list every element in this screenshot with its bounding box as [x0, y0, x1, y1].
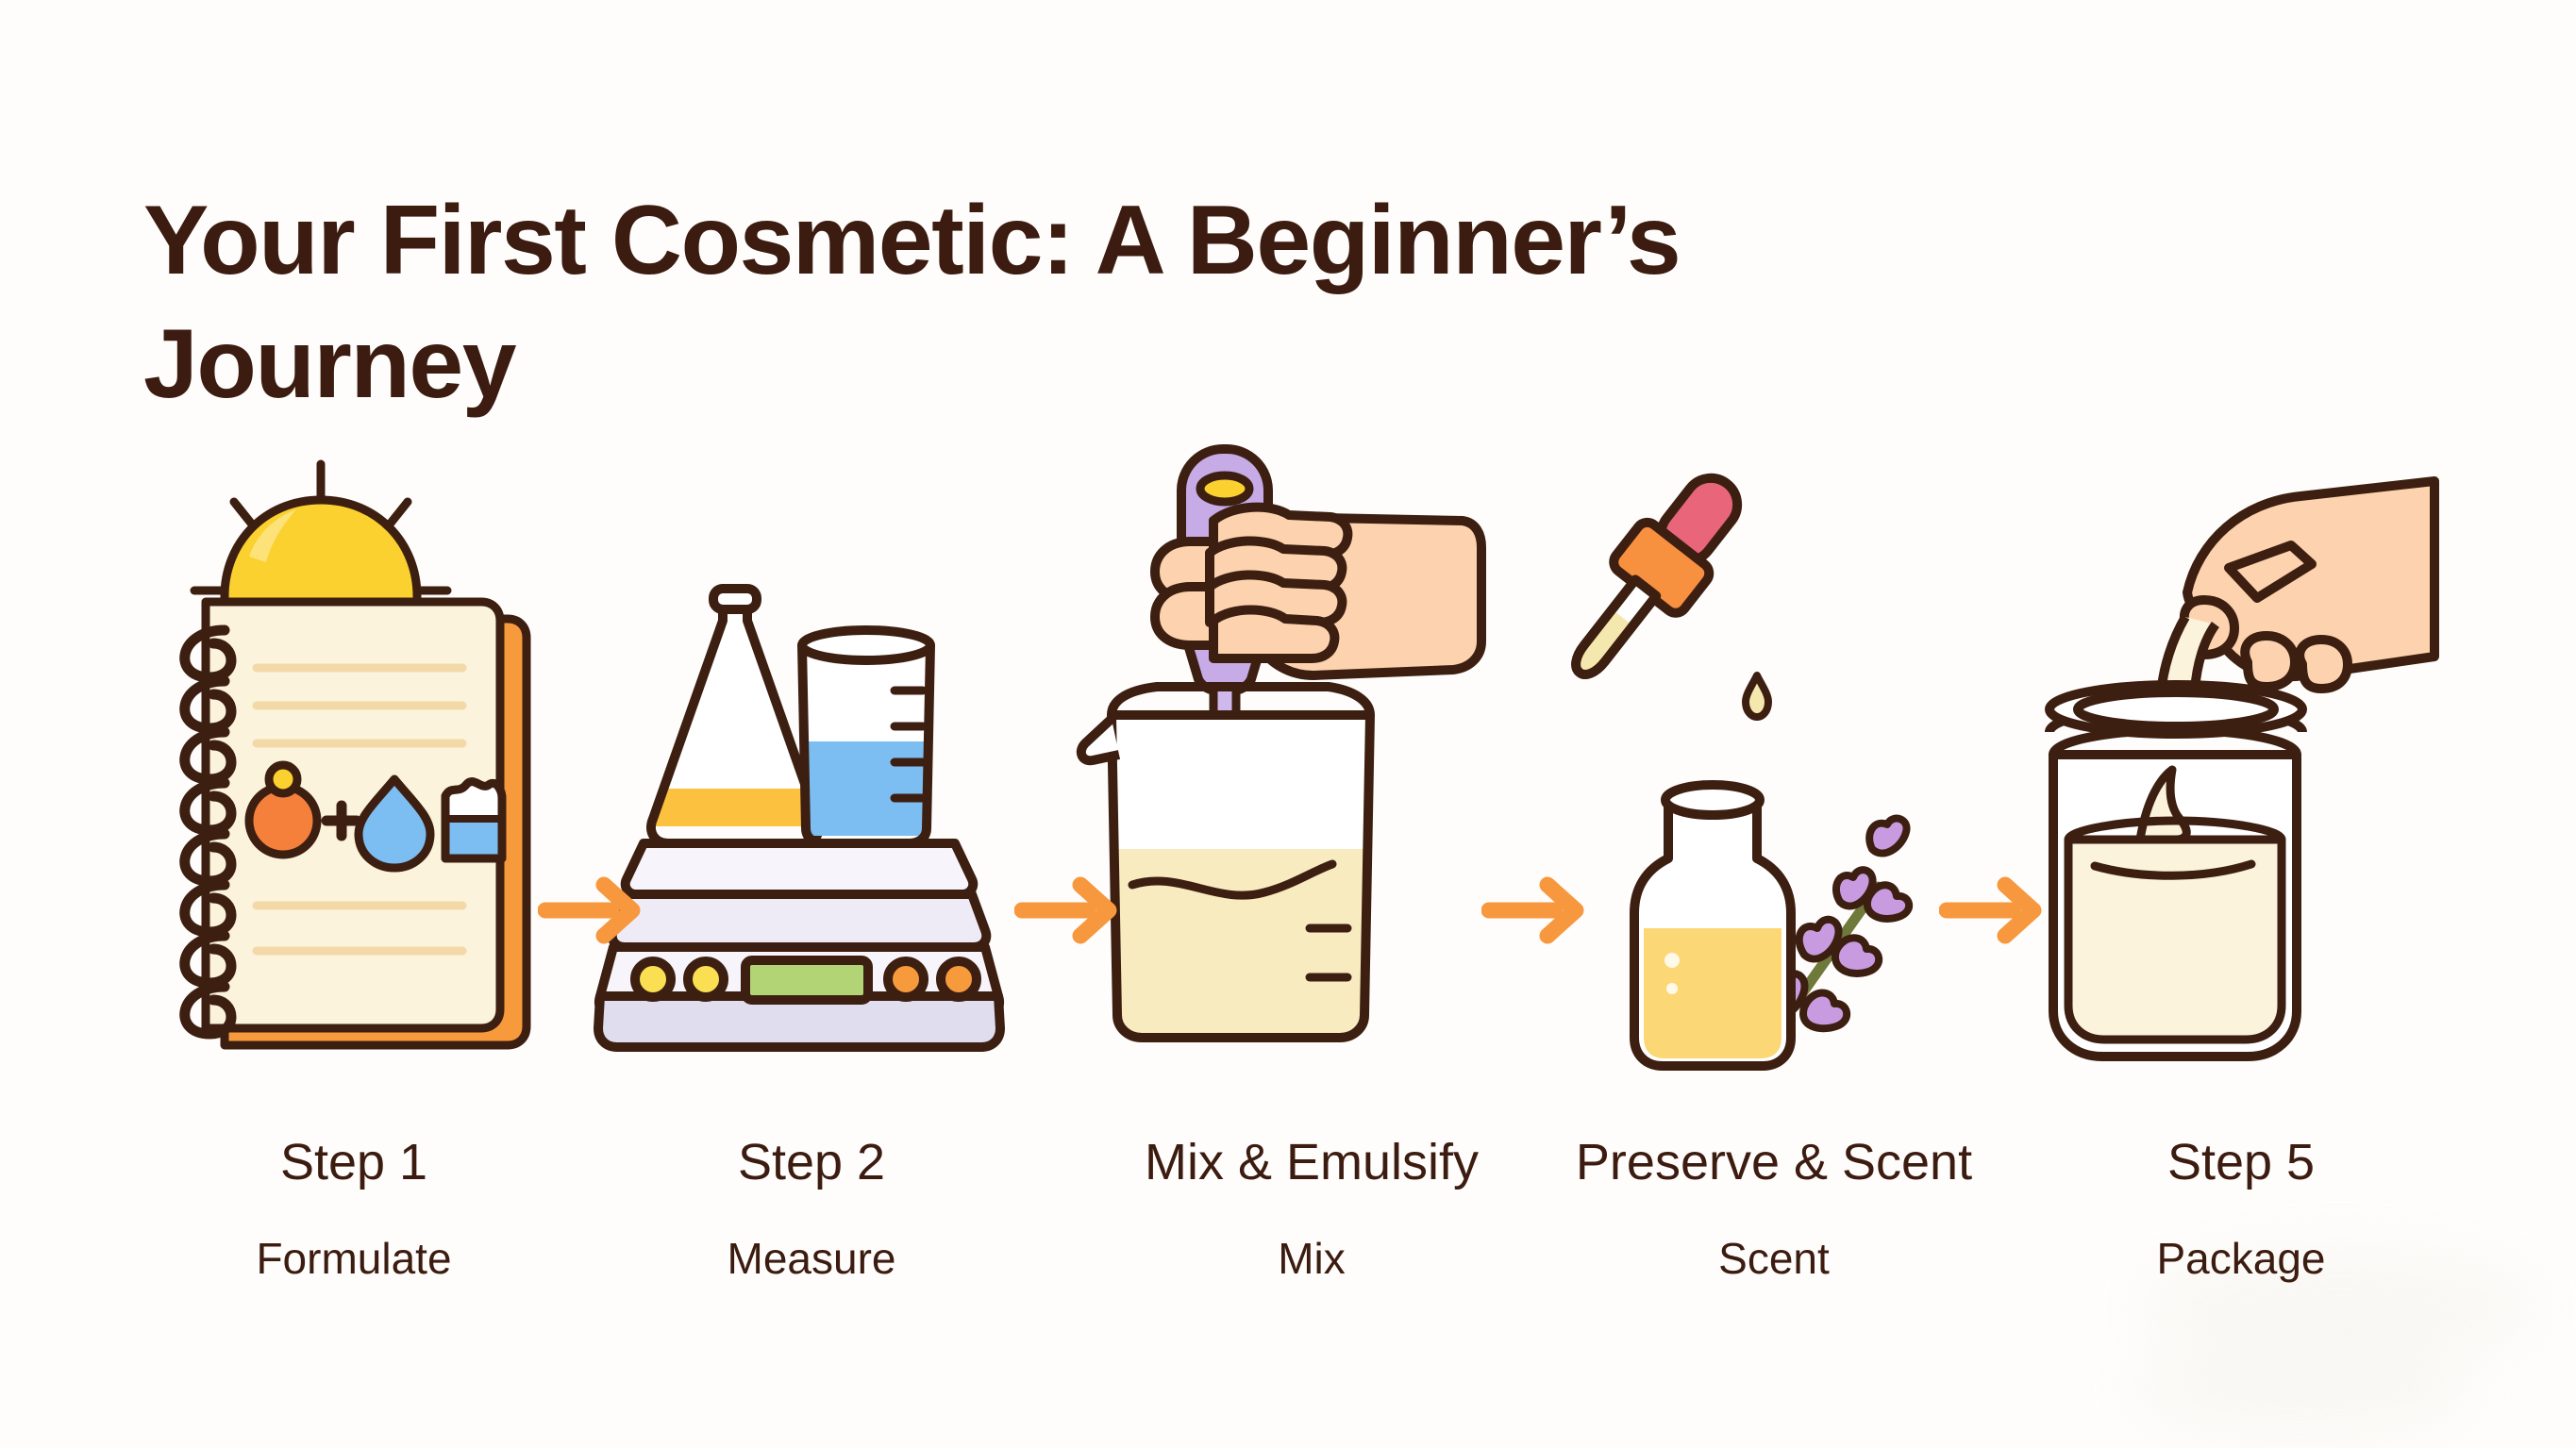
- caption-package: Step 5 Package: [2038, 1137, 2444, 1280]
- container-icon: [445, 782, 502, 858]
- arrow-right-icon: [1481, 858, 1604, 962]
- caption-line1: Step 1: [151, 1137, 557, 1188]
- glass-jar: [2049, 685, 2302, 1057]
- erlenmeyer-flask: [649, 589, 821, 843]
- bottle-liquid: [1644, 928, 1781, 1058]
- notebook-with-lightbulb-icon: [151, 443, 557, 1104]
- caption-line1: Step 5: [2038, 1137, 2444, 1188]
- caption-mix: Mix & Emulsify Mix: [1109, 1137, 1514, 1280]
- step-measure: [604, 443, 1010, 1160]
- caption-line2: Package: [2038, 1237, 2444, 1280]
- spiral-notebook: [185, 602, 502, 1034]
- step-mix: [1076, 443, 1481, 1160]
- flask-beaker-on-scale-icon: [604, 443, 1010, 1104]
- bottle-mouth: [1665, 785, 1760, 815]
- hand-filling-jar-icon: [2029, 443, 2434, 1104]
- caption-measure: Step 2 Measure: [609, 1137, 1014, 1280]
- arrow-right-icon: [1014, 858, 1137, 962]
- infographic-canvas: Your First Cosmetic: A Beginner’s Journe…: [0, 0, 2576, 1448]
- caption-scent: Preserve & Scent Scent: [1552, 1137, 1996, 1280]
- caption-line2: Scent: [1552, 1237, 1996, 1280]
- background-wash: [2133, 1335, 2472, 1439]
- step-formulate: [151, 443, 557, 1160]
- caption-line2: Formulate: [151, 1237, 557, 1280]
- caption-line1: Preserve & Scent: [1552, 1137, 1996, 1188]
- arrow-right-icon: [1939, 858, 2062, 962]
- caption-line1: Mix & Emulsify: [1109, 1137, 1514, 1188]
- glass-bottle: [1634, 785, 1791, 1066]
- oil-droplet: [1746, 675, 1768, 717]
- caption-formulate: Step 1 Formulate: [151, 1137, 557, 1280]
- captions-row: Step 1 Formulate Step 2 Measure Mix & Em…: [0, 1137, 2576, 1307]
- pipette-dropper: [1546, 457, 1762, 699]
- step-scent: [1557, 443, 1963, 1160]
- lcd-display: [745, 960, 868, 1000]
- dropper-bottle-lavender-icon: [1557, 443, 1963, 1104]
- caption-line2: Measure: [609, 1237, 1014, 1280]
- hand-blending-beaker-icon: [1076, 443, 1481, 1104]
- hand: [2184, 481, 2434, 689]
- graduated-beaker: [800, 630, 932, 843]
- caption-line2: Mix: [1109, 1237, 1514, 1280]
- page-title: Your First Cosmetic: A Beginner’s Journe…: [143, 179, 1804, 426]
- blender-power-button: [1200, 475, 1249, 502]
- arrow-right-icon: [538, 858, 661, 962]
- step-package: [2029, 443, 2434, 1160]
- steps-row: [0, 443, 2576, 1160]
- caption-line1: Step 2: [609, 1137, 1014, 1188]
- jar-threads: [2049, 685, 2302, 755]
